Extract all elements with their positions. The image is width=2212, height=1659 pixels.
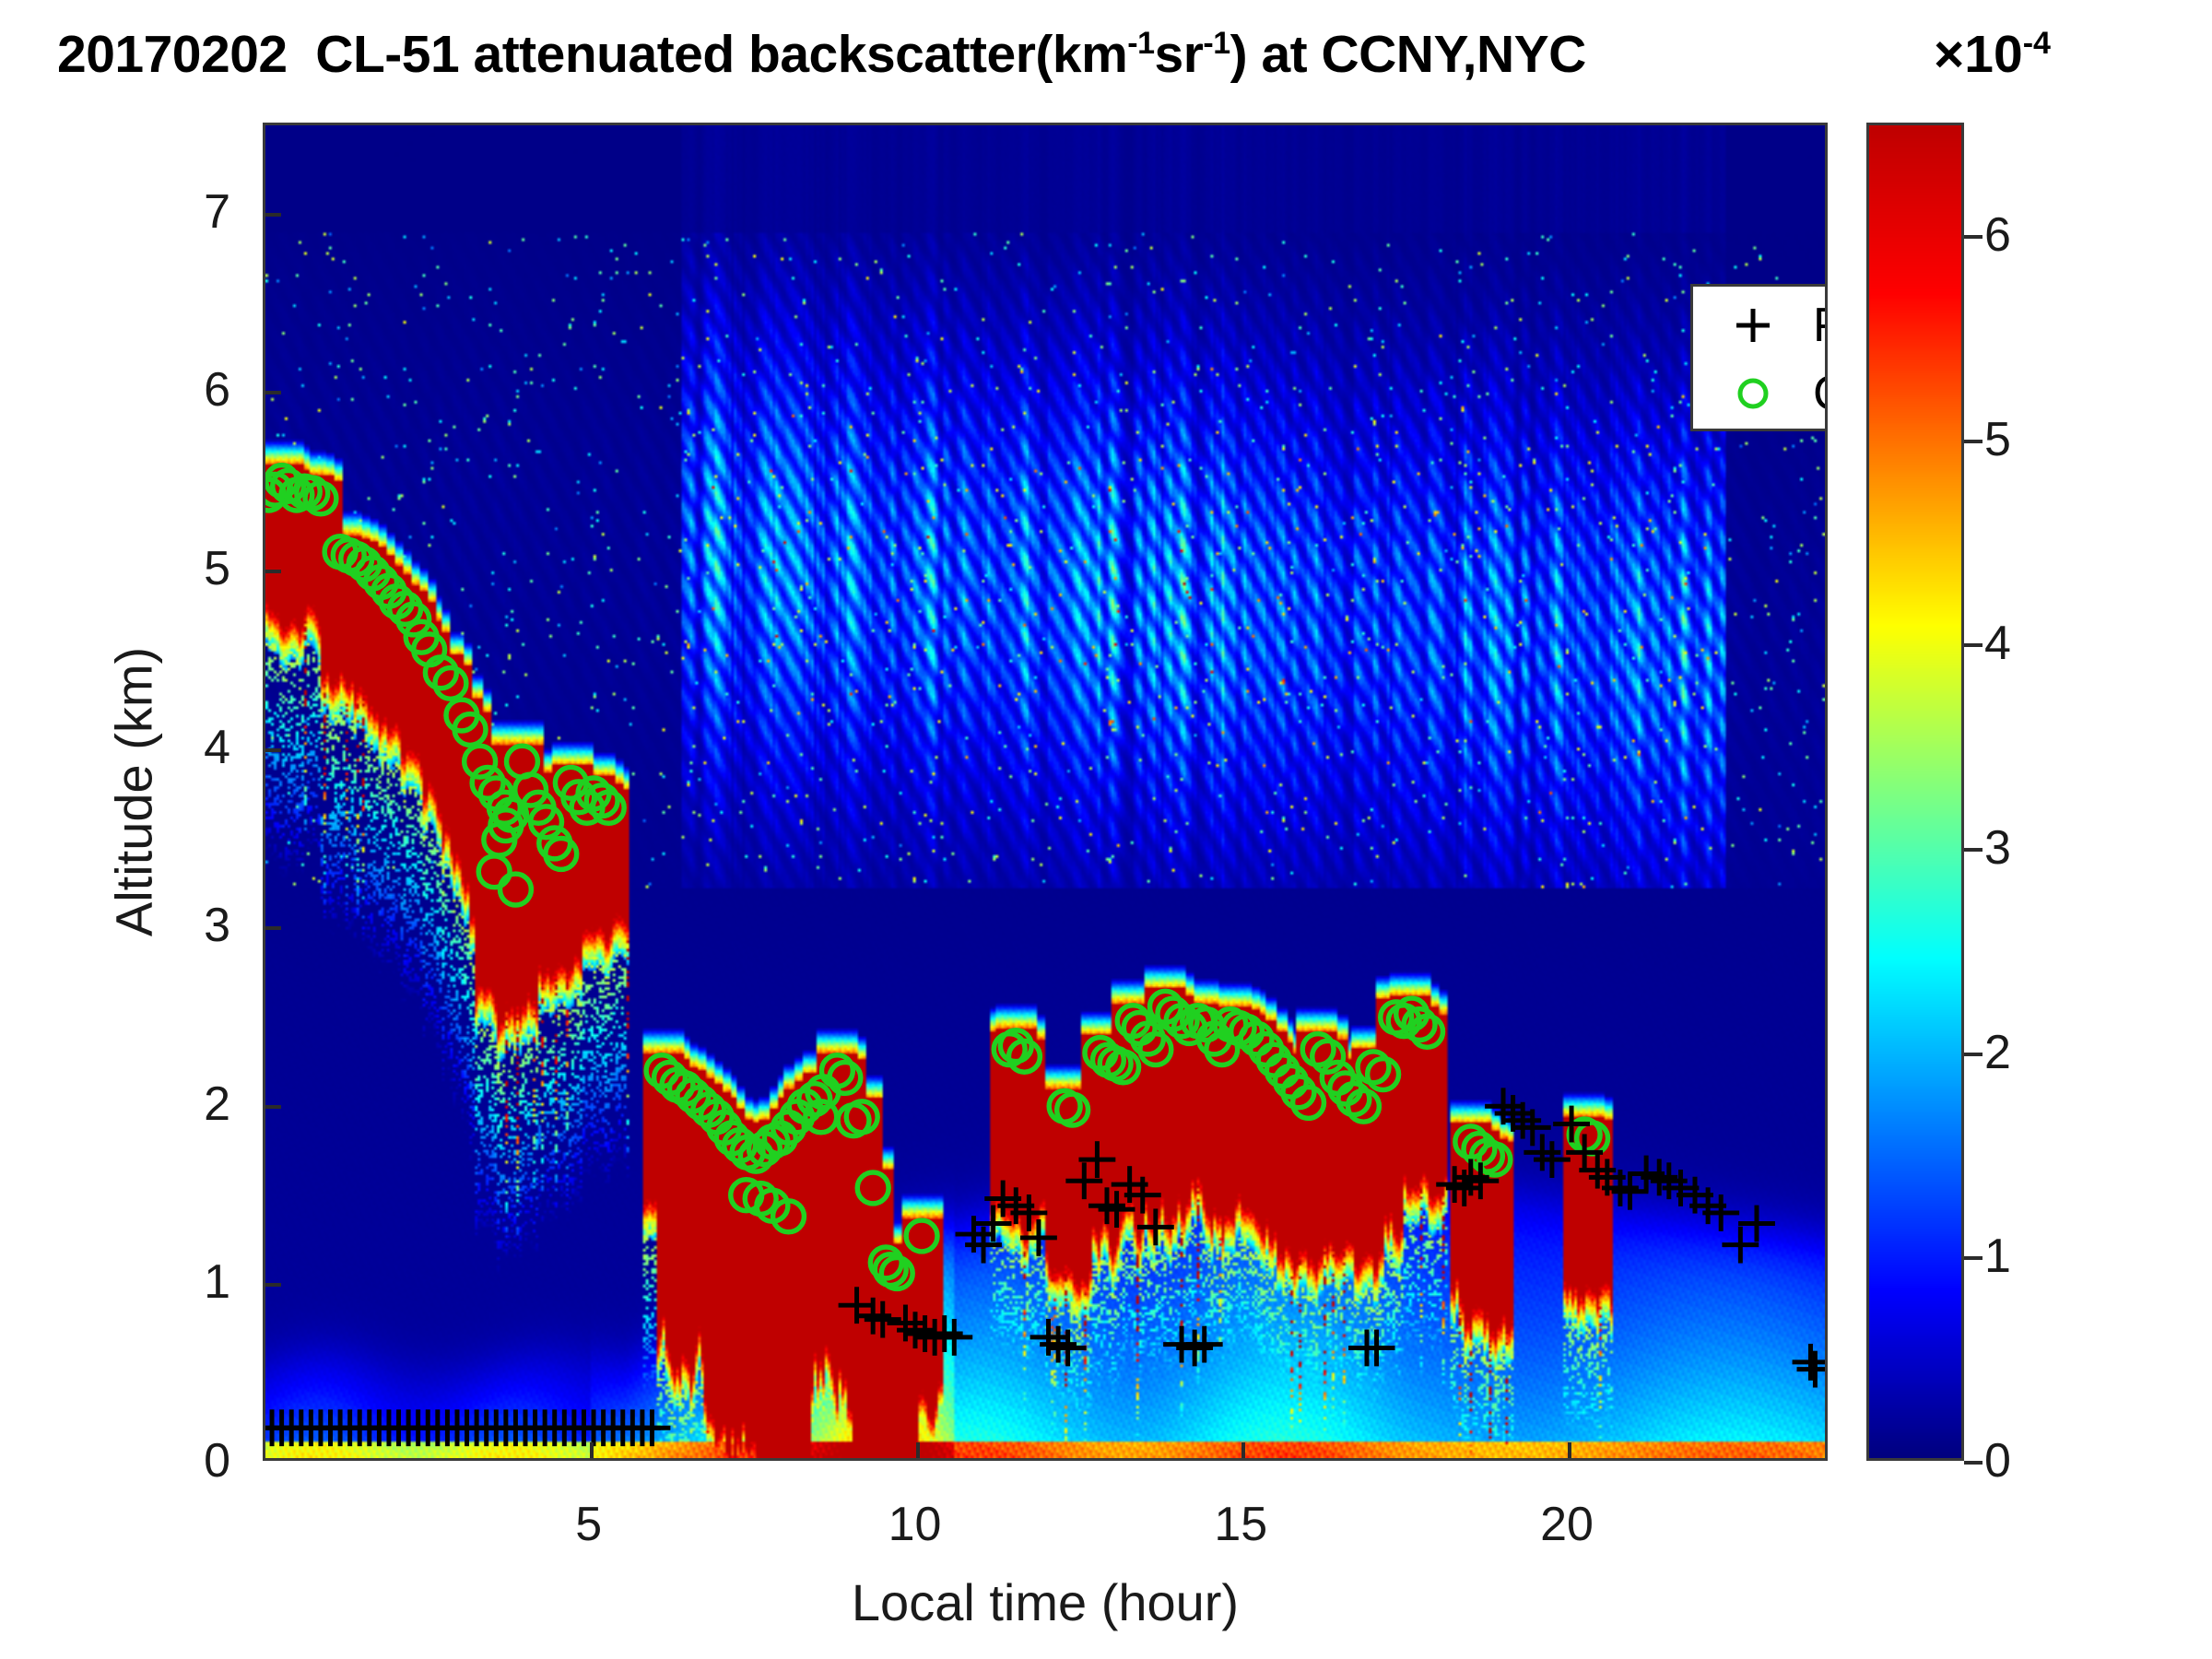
legend-label-cloud-z: Cloud-z	[1813, 366, 1828, 421]
x-axis-tick-label: 5	[524, 1497, 653, 1552]
colorbar-tick	[1964, 1053, 1983, 1056]
x-axis-tick	[1241, 1442, 1245, 1458]
legend-label-pbl-top: PBL-top	[1813, 298, 1828, 353]
plot-legend: PBL-top Cloud-z	[1690, 284, 1828, 431]
colorbar-tick	[1964, 1461, 1983, 1465]
colorbar-tick-label: 5	[1984, 412, 2011, 467]
colorbar-tick-label: 2	[1984, 1025, 2011, 1080]
colorbar-gradient	[1866, 123, 1964, 1461]
x-axis-tick-label: 15	[1176, 1497, 1305, 1552]
colorbar-tick-label: 0	[1984, 1433, 2011, 1488]
backscatter-plot: PBL-top Cloud-z	[263, 123, 1828, 1461]
colorbar-multiplier-exponent: -4	[2023, 26, 2051, 61]
colorbar-tick	[1964, 643, 1983, 647]
y-axis-tick-label: 1	[120, 1254, 230, 1310]
x-axis-label: Local time (hour)	[852, 1572, 1239, 1632]
y-axis-tick	[265, 391, 281, 394]
colorbar-tick-label: 3	[1984, 820, 2011, 876]
colorbar: 0123456	[1866, 123, 1964, 1461]
page-title: 20170202 CL-51 attenuated backscatter(km…	[57, 24, 1586, 85]
title-main: CL-51 attenuated backscatter(km	[315, 25, 1127, 84]
title-superscript-2: -1	[1203, 26, 1230, 61]
colorbar-tick	[1964, 440, 1983, 443]
title-mid: sr	[1155, 25, 1204, 84]
colorbar-multiplier-base: ×10	[1934, 25, 2023, 84]
circle-icon	[1693, 372, 1813, 415]
colorbar-tick	[1964, 848, 1983, 852]
y-axis-tick	[265, 1283, 281, 1287]
colorbar-tick-label: 4	[1984, 616, 2011, 671]
colorbar-tick-label: 1	[1984, 1229, 2011, 1284]
y-axis-tick-label: 0	[120, 1433, 230, 1488]
y-axis-tick-label: 6	[120, 362, 230, 418]
colorbar-multiplier: ×10-4	[1934, 24, 2051, 85]
y-axis-tick-label: 4	[120, 720, 230, 775]
y-axis-tick-label: 5	[120, 541, 230, 596]
plus-icon	[1693, 304, 1813, 347]
title-superscript-1: -1	[1127, 26, 1154, 61]
y-axis-tick	[265, 1105, 281, 1109]
legend-item-pbl-top: PBL-top	[1693, 288, 1828, 362]
y-axis-tick	[265, 213, 281, 217]
y-axis-tick-label: 7	[120, 184, 230, 240]
y-axis-tick	[265, 748, 281, 752]
legend-item-cloud-z: Cloud-z	[1693, 357, 1828, 430]
x-axis-tick	[916, 1442, 920, 1458]
colorbar-tick-label: 6	[1984, 207, 2011, 263]
x-axis-tick	[590, 1442, 594, 1458]
title-tail: ) at CCNY,NYC	[1230, 25, 1586, 84]
y-axis-label: Altitude (km)	[104, 647, 164, 936]
colorbar-tick	[1964, 1256, 1983, 1260]
x-axis-tick-label: 20	[1502, 1497, 1631, 1552]
y-axis-tick-label: 2	[120, 1077, 230, 1132]
x-axis-tick-label: 10	[851, 1497, 980, 1552]
y-axis-tick	[265, 570, 281, 573]
title-date: 20170202	[57, 25, 288, 84]
x-axis-tick	[1568, 1442, 1571, 1458]
backscatter-heatmap	[265, 125, 1825, 1458]
colorbar-tick	[1964, 235, 1983, 239]
y-axis-tick-label: 3	[120, 898, 230, 953]
y-axis-tick	[265, 926, 281, 930]
